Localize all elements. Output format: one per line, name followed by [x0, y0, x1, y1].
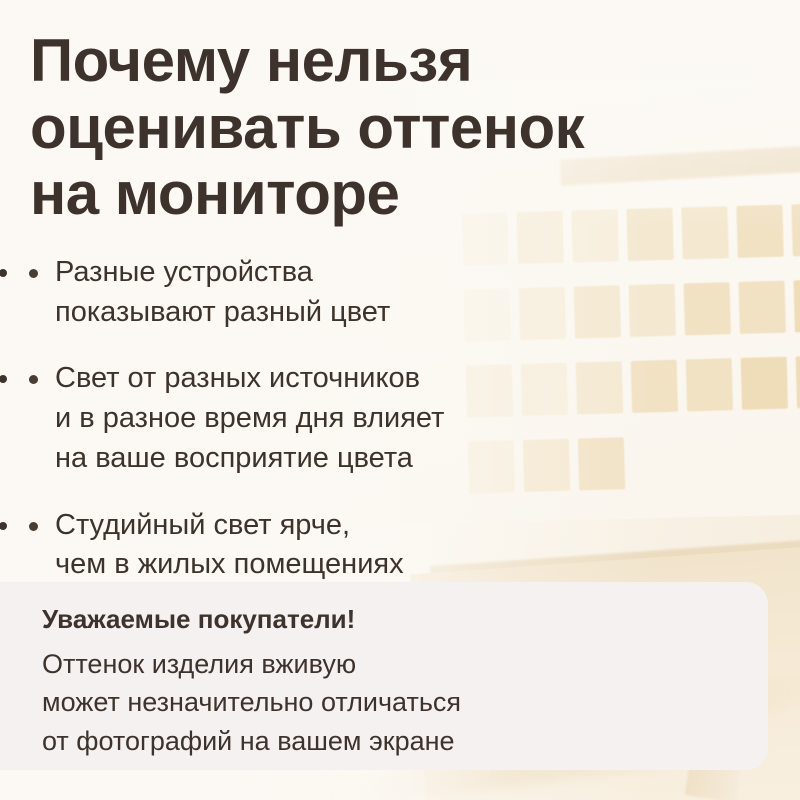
- list-item-line: Студийный свет ярче,: [55, 506, 582, 546]
- content-layer: Почему нельзя оценивать оттенок на монит…: [0, 0, 800, 800]
- bullet-dot-icon: [29, 375, 38, 384]
- list-item: Студийный свет ярче, чем в жилых помещен…: [22, 506, 582, 585]
- list-item-line: Разные устройства: [55, 253, 582, 293]
- notice-card-heading: Уважаемые покупатели!: [42, 604, 355, 635]
- list-item-line: на ваше восприятие цвета: [55, 439, 582, 479]
- reasons-list: Разные устройства показывают разный цвет…: [22, 253, 582, 585]
- list-item: Разные устройства показывают разный цвет: [22, 253, 582, 332]
- list-item-line: показывают разный цвет: [55, 293, 582, 333]
- notice-card-line: может незначительно отличаться: [42, 683, 461, 721]
- notice-card-line: от фотографий на вашем экране: [42, 722, 461, 760]
- bullet-dot-icon: [29, 269, 38, 278]
- slide-canvas: Почему нельзя оценивать оттенок на монит…: [0, 0, 800, 800]
- title-line: оценивать оттенок: [30, 95, 730, 162]
- notice-card-body: Оттенок изделия вживую может незначитель…: [42, 645, 461, 760]
- list-item-line: чем в жилых помещениях: [55, 545, 582, 585]
- notice-card: Уважаемые покупатели! Оттенок изделия вж…: [0, 582, 768, 770]
- list-item-line: и в разное время дня влияет: [55, 399, 582, 439]
- list-item-line: Свет от разных источников: [55, 359, 582, 399]
- list-item: Свет от разных источников и в разное вре…: [22, 359, 582, 478]
- title-line: на мониторе: [30, 161, 730, 228]
- bullet-dot-icon: [29, 522, 38, 531]
- notice-card-line: Оттенок изделия вживую: [42, 645, 461, 683]
- title-line: Почему нельзя: [30, 28, 730, 95]
- page-title: Почему нельзя оценивать оттенок на монит…: [30, 28, 730, 228]
